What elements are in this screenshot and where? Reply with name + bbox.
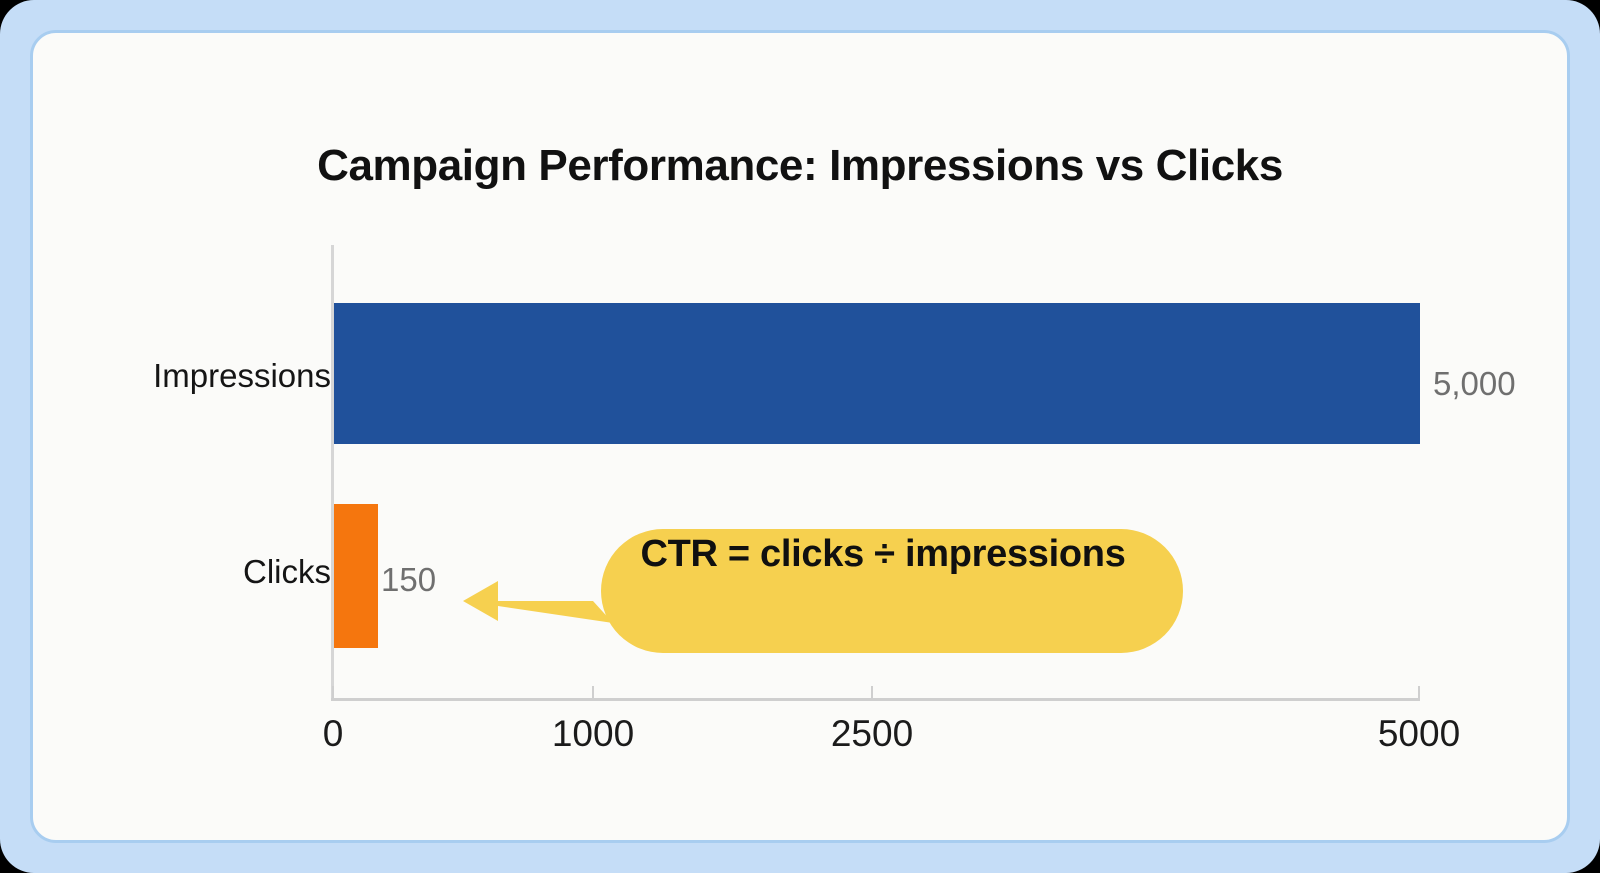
category-label-clicks: Clicks [243,553,331,591]
x-tick-label-5000: 5000 [1378,713,1460,755]
callout-arrow-icon [463,581,613,623]
x-tick-mark-1000 [592,686,594,701]
x-tick-label-1000: 1000 [552,713,634,755]
x-tick-label-2500: 2500 [831,713,913,755]
callout-text: CTR = clicks ÷ impressions [573,533,1193,576]
outer-frame: Campaign Performance: Impressions vs Cli… [0,0,1600,873]
category-label-impressions: Impressions [153,357,331,395]
x-tick-label-0: 0 [323,713,344,755]
bar-impressions[interactable] [334,303,1420,444]
chart-card: Campaign Performance: Impressions vs Cli… [30,30,1570,843]
value-label-impressions: 5,000 [1433,365,1516,403]
x-tick-mark-5000 [1418,686,1420,701]
bar-clicks[interactable] [334,504,378,648]
x-axis-line [331,698,1419,701]
bar-chart-plot-area: 0 1000 2500 5000 Impressions Clicks 5,00… [33,33,1567,840]
value-label-clicks: 150 [381,561,436,599]
x-tick-mark-0 [332,686,334,701]
x-tick-mark-2500 [871,686,873,701]
